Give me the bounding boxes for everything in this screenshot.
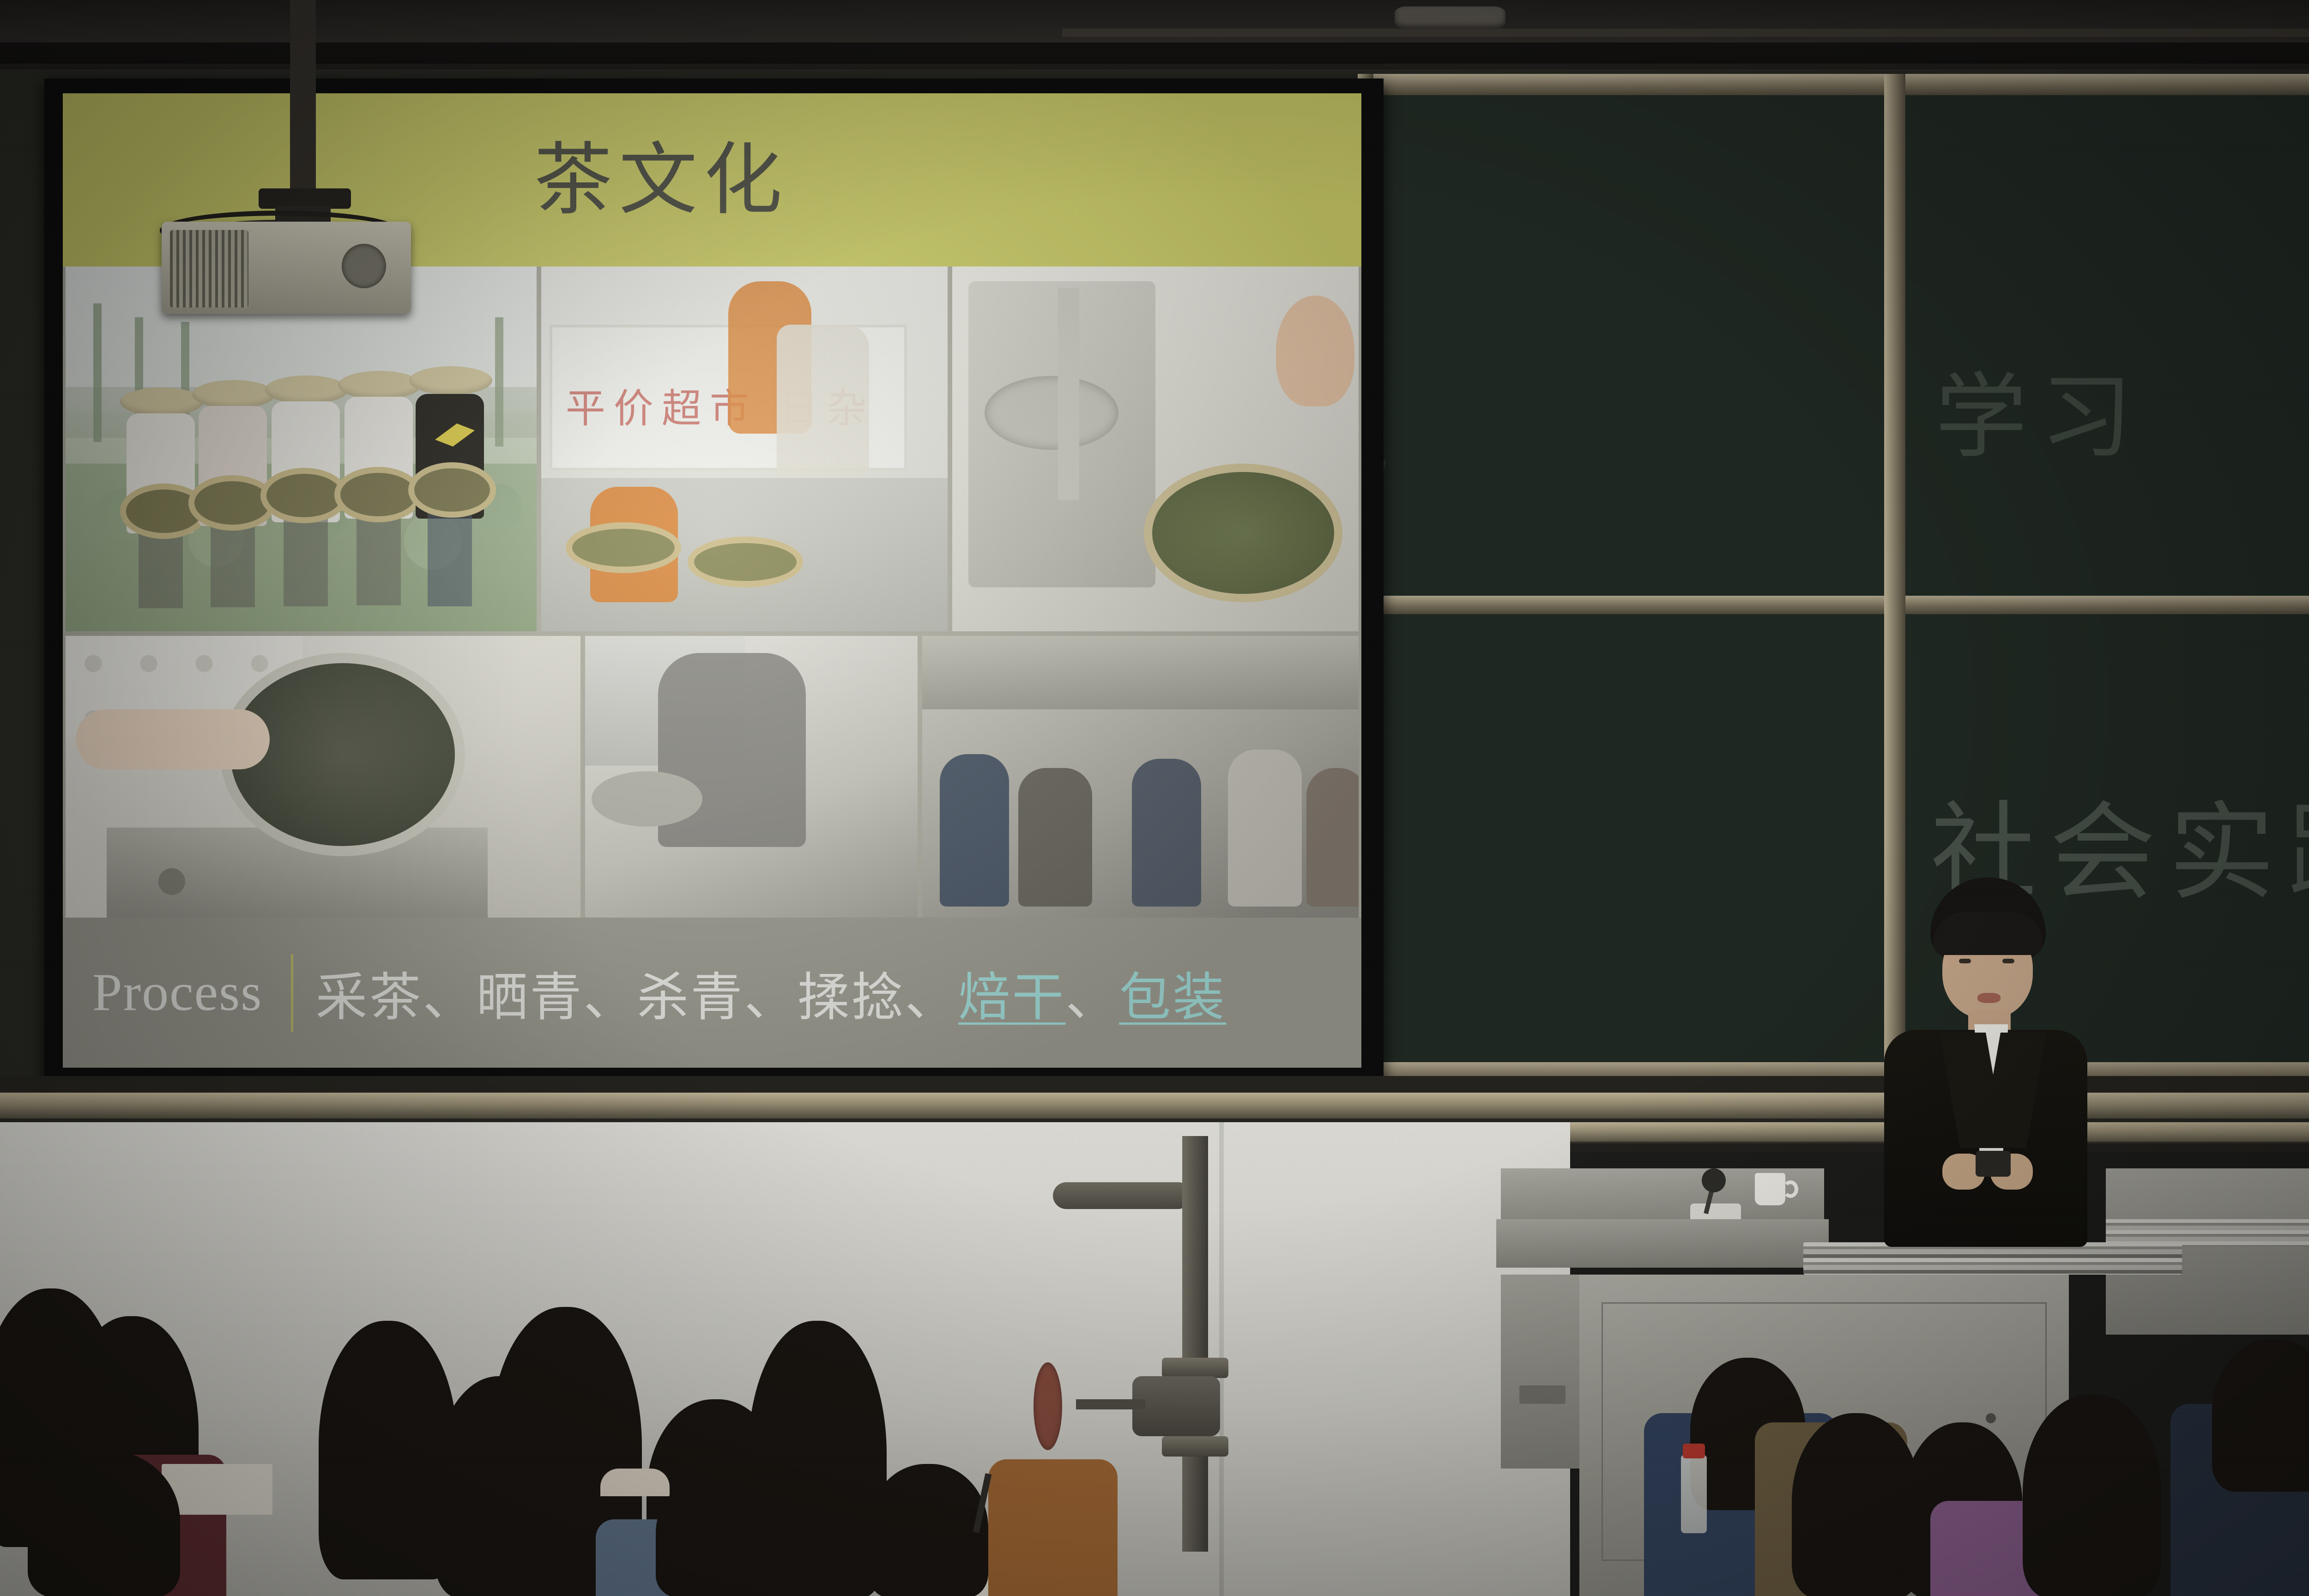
chalkboard (1367, 81, 2309, 1074)
pipe-flange-upper (1162, 1358, 1228, 1378)
microphone (1702, 1168, 1726, 1192)
process-separator (291, 954, 293, 1032)
audience-head (2023, 1395, 2161, 1596)
water-bottle (1681, 1455, 1707, 1533)
lectern-door-knob-right[interactable] (1986, 1413, 1996, 1423)
presenter-fringe (1933, 912, 2043, 955)
projector-vent-grill (170, 230, 248, 308)
cup (1755, 1173, 1785, 1205)
process-step-link-baigan[interactable]: 焙干 (958, 967, 1065, 1028)
presenter-eye-left (1959, 959, 1971, 963)
process-label: Process (92, 962, 262, 1023)
process-step-link-baozhuang[interactable]: 包装 (1119, 967, 1226, 1028)
water-bottle-cap (1683, 1444, 1705, 1458)
photo-processing-station (585, 636, 918, 918)
process-steps-comma: 、 (1065, 967, 1119, 1028)
projector-lens (342, 244, 386, 288)
photo-market-stalls (922, 636, 1359, 918)
photo-collage: 平价超市 日杂 (63, 266, 1361, 918)
presentation-remote[interactable] (1976, 1151, 2011, 1177)
lectern-lock[interactable] (1519, 1385, 1566, 1404)
photo-rolling-machine (952, 266, 1359, 631)
presenter-mouth (1977, 993, 2001, 1003)
process-line: Process 采茶、晒青、杀青、揉捻、焙干、包装 (63, 918, 1361, 1068)
pipe-valve-stem (1076, 1399, 1145, 1409)
chalk-writing-2: 学习 (1935, 342, 2146, 476)
projector-pole (290, 0, 316, 199)
pipe-valve-body (1132, 1376, 1220, 1436)
ceiling-projector (143, 0, 429, 332)
pipe-flange-lower (1162, 1436, 1228, 1457)
pipe-valve-handwheel[interactable] (1034, 1362, 1062, 1450)
lectern-lip (1496, 1219, 1829, 1268)
chalkboard-mid-rail (1367, 596, 2309, 614)
slide-title: 茶文化 (534, 141, 789, 219)
audience-body (988, 1459, 1118, 1596)
ceiling-vent (1395, 6, 1505, 29)
audience-head (868, 1464, 988, 1596)
pipe-branch (1053, 1182, 1191, 1209)
process-steps: 采茶、晒青、杀青、揉捻、焙干、包装 (315, 955, 1226, 1030)
cup-handle (1783, 1180, 1798, 1198)
audience-head (1792, 1413, 1921, 1596)
photo-market-banner: 平价超市 日杂 (541, 266, 948, 631)
audience-head (2212, 1339, 2309, 1492)
audience-head (28, 1450, 180, 1596)
audience-head (656, 1473, 785, 1596)
classroom-scene: 实践 学习 社会实践 茶文化 (0, 0, 2309, 1596)
keyboard-slide-rail[interactable] (1803, 1242, 2182, 1275)
student-presenter (1852, 877, 2083, 1247)
process-steps-plain: 采茶、晒青、杀青、揉捻、 (315, 967, 958, 1028)
wall-pipe (1182, 1136, 1208, 1552)
chalkboard-top-rail (1358, 74, 2309, 95)
collage-row-bottom (66, 636, 1359, 918)
lectern-side-panel (1501, 1275, 1584, 1469)
photo-roasting-drum (66, 636, 580, 918)
presenter-eye-right (2002, 959, 2014, 963)
ceiling-pipe (1062, 29, 2309, 37)
audience-hairband (600, 1469, 670, 1496)
